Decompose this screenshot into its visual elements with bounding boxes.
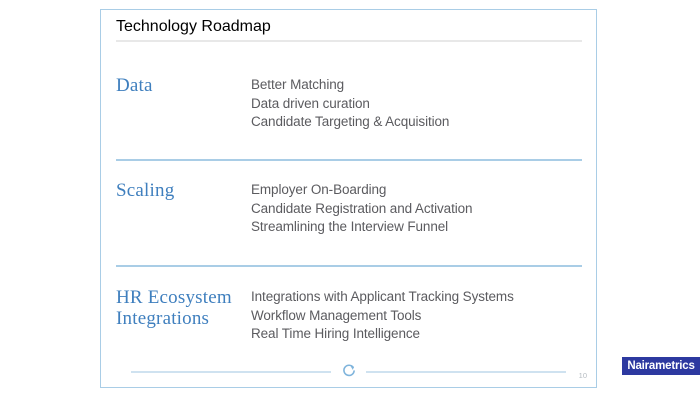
list-item: Better Matching: [251, 76, 582, 95]
circular-arrow-icon: [340, 362, 358, 380]
watermark-nairametrics: Nairametrics: [622, 357, 700, 375]
list-item: Streamlining the Interview Funnel: [251, 218, 582, 237]
slide-header: Technology Roadmap: [116, 18, 582, 42]
section-heading-line1: Data: [116, 75, 153, 96]
list-item: Candidate Targeting & Acquisition: [251, 113, 582, 132]
presentation-slide: Technology Roadmap Data Better Matching …: [100, 9, 597, 388]
list-item: Integrations with Applicant Tracking Sys…: [251, 288, 582, 307]
section-heading-line1: HR Ecosystem: [116, 287, 232, 308]
section-heading-hr-ecosystem: HR Ecosystem Integrations: [116, 286, 251, 329]
section-heading-data: Data: [116, 74, 251, 96]
list-item: Employer On-Boarding: [251, 181, 582, 200]
section-heading-line2: Integrations: [116, 308, 251, 329]
section-divider-2: [116, 265, 582, 267]
page-number: 10: [579, 371, 587, 380]
roadmap-section-hr-ecosystem: HR Ecosystem Integrations Integrations w…: [116, 286, 582, 344]
list-item: Workflow Management Tools: [251, 307, 582, 326]
section-items-hr-ecosystem: Integrations with Applicant Tracking Sys…: [251, 286, 582, 344]
section-items-scaling: Employer On-Boarding Candidate Registrat…: [251, 179, 582, 237]
section-items-data: Better Matching Data driven curation Can…: [251, 74, 582, 132]
section-divider-1: [116, 159, 582, 161]
footer-rule-right: [366, 371, 566, 373]
section-heading-scaling: Scaling: [116, 179, 251, 201]
deck-title: Technology Roadmap: [116, 18, 582, 36]
header-divider: [116, 40, 582, 42]
roadmap-section-data: Data Better Matching Data driven curatio…: [116, 74, 582, 132]
roadmap-section-scaling: Scaling Employer On-Boarding Candidate R…: [116, 179, 582, 237]
watermark-label: Nairametrics: [627, 360, 694, 372]
footer-rule-left: [131, 371, 331, 373]
section-heading-line1: Scaling: [116, 180, 174, 201]
slide-footer: 10: [101, 360, 596, 382]
list-item: Candidate Registration and Activation: [251, 200, 582, 219]
list-item: Real Time Hiring Intelligence: [251, 325, 582, 344]
list-item: Data driven curation: [251, 95, 582, 114]
